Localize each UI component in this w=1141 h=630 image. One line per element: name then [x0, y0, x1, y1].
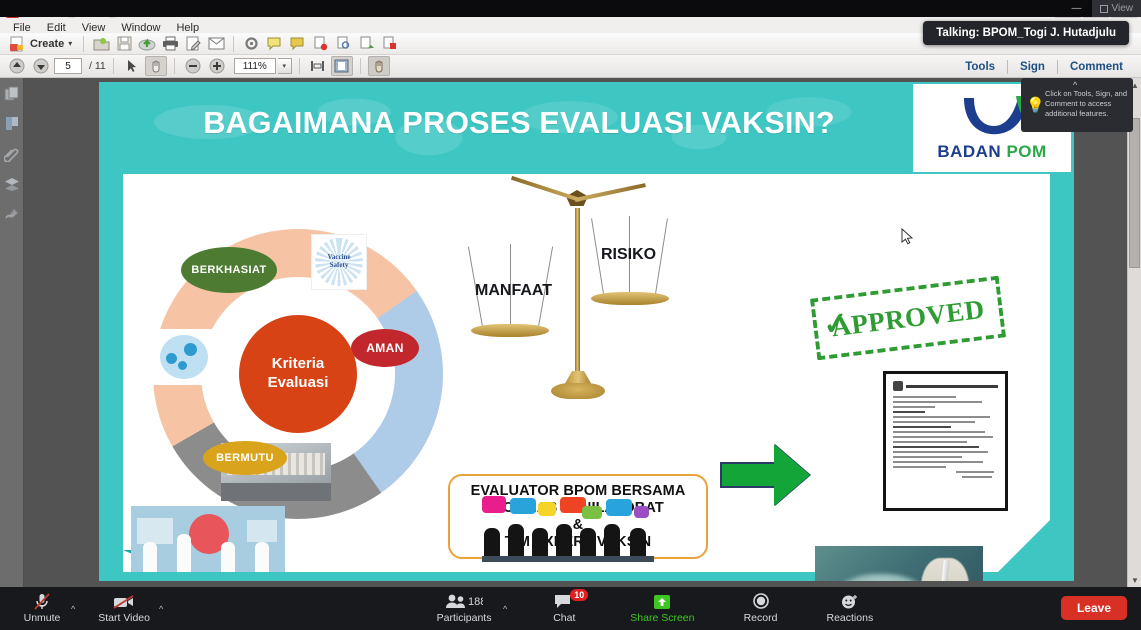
hint-popup-text: Click on Tools, Sign, and Comment to acc…	[1045, 89, 1127, 119]
comment-icon	[266, 37, 282, 51]
edit-pdf-button[interactable]	[182, 34, 204, 54]
sticky-note-button[interactable]	[286, 34, 308, 54]
video-camera-off-icon	[112, 593, 136, 611]
zoom-view-label: View	[1112, 3, 1134, 14]
slide-title: BAGAIMANA PROSES EVALUASI VAKSIN?	[99, 106, 939, 141]
pan-tool-icon	[372, 59, 386, 73]
start-video-label: Start Video	[98, 612, 150, 624]
chat-button[interactable]: 10 Chat	[538, 587, 590, 630]
microphone-muted-icon	[32, 593, 52, 611]
unmute-button[interactable]: Unmute	[16, 587, 68, 630]
record-label: Record	[744, 612, 778, 624]
hint-caret-icon: ^	[1073, 79, 1077, 91]
audio-options-caret-icon[interactable]: ^	[68, 587, 78, 630]
scientists-illustration	[131, 506, 285, 572]
record-button[interactable]: Record	[735, 587, 787, 630]
search-button[interactable]	[332, 34, 354, 54]
reactions-smiley-icon	[840, 593, 860, 611]
hand-tool-button[interactable]	[145, 56, 167, 76]
tools-button[interactable]: Tools	[953, 61, 1007, 73]
email-button[interactable]	[205, 34, 227, 54]
export-icon	[359, 36, 374, 51]
zoom-control-bar: Unmute ^ Start Video ^	[0, 587, 1141, 630]
green-arrow-icon	[720, 444, 812, 506]
create-pdf-icon	[8, 35, 26, 53]
toolbar-separator	[299, 58, 300, 74]
page-total-label: / 11	[89, 60, 106, 72]
pdf-page-content: BAGAIMANA PROSES EVALUASI VAKSIN? BADAN …	[99, 82, 1074, 581]
pdf-vertical-scrollbar[interactable]: ▲ ▼	[1127, 78, 1141, 587]
participants-button[interactable]: 188 Participants	[428, 587, 500, 630]
settings-button[interactable]	[240, 34, 262, 54]
share-screen-icon	[651, 593, 673, 611]
zoom-top-bar	[0, 0, 1141, 17]
previous-page-icon	[9, 58, 25, 74]
toolbar-separator	[233, 36, 234, 52]
stamp-icon	[313, 36, 328, 51]
criteria-circle-diagram: Vaccine Safety BERKHASIAT AMAN BERMUTU K…	[153, 229, 443, 519]
zoom-level-input[interactable]: 111%	[234, 58, 276, 74]
unmute-label: Unmute	[24, 612, 61, 624]
chat-label: Chat	[553, 612, 575, 624]
video-options-caret-icon[interactable]: ^	[156, 587, 166, 630]
scale-label-risiko: RISIKO	[601, 246, 656, 264]
upload-cloud-button[interactable]	[136, 34, 158, 54]
badan-pom-wordmark: BADAN POM	[937, 142, 1046, 162]
reactions-button[interactable]: Reactions	[821, 587, 880, 630]
upload-cloud-icon	[138, 36, 156, 51]
layers-icon[interactable]	[4, 176, 20, 192]
zoom-view-button[interactable]: View	[1092, 0, 1141, 17]
vaccine-safety-line2: Safety	[330, 262, 349, 270]
previous-page-button[interactable]	[6, 56, 28, 76]
fit-page-icon	[334, 59, 349, 73]
criteria-center-label: Kriteria Evaluasi	[239, 315, 357, 433]
center-line1: Kriteria	[272, 355, 325, 374]
bubble-berkhasiat: BERKHASIAT	[181, 247, 277, 293]
toolbar-separator	[113, 58, 114, 74]
sign-button[interactable]: Sign	[1008, 61, 1057, 73]
stamp-button[interactable]	[309, 34, 331, 54]
comment-panel-button[interactable]: Comment	[1058, 61, 1135, 73]
approved-stamp-text: APPROVED	[810, 276, 1006, 361]
acrobat-navigation-pane	[0, 78, 24, 587]
center-line2: Evaluasi	[268, 374, 329, 393]
participants-caret-icon[interactable]: ^	[500, 587, 510, 630]
vaccination-photo	[815, 546, 983, 581]
bubble-aman: AMAN	[351, 329, 419, 367]
create-form-icon	[382, 36, 397, 51]
fit-page-button[interactable]	[331, 56, 353, 76]
zoom-out-icon	[185, 58, 201, 74]
zoom-minimize-button[interactable]: —	[1062, 0, 1092, 17]
participants-label: Participants	[437, 612, 492, 624]
acrobat-toolbar-navigation: 5 / 11	[0, 55, 1141, 78]
save-icon	[117, 36, 132, 51]
hand-tool-icon	[149, 59, 163, 73]
scale-pan-right	[591, 292, 669, 305]
toolbar-separator	[174, 58, 175, 74]
signatures-icon[interactable]	[4, 206, 20, 222]
toolbar-separator	[83, 36, 84, 52]
svg-text:188: 188	[468, 596, 483, 608]
search-icon	[336, 36, 351, 51]
zoom-in-button[interactable]	[206, 56, 228, 76]
leave-meeting-button[interactable]: Leave	[1061, 596, 1127, 620]
create-pdf-button[interactable]: Create ▾	[6, 34, 77, 54]
start-video-button[interactable]: Start Video	[92, 587, 156, 630]
scale-pan-left	[471, 324, 549, 337]
select-tool-button[interactable]	[121, 56, 143, 76]
screen-root: Kompac_180121_rev 180121 13.50 (1).pdf -…	[0, 0, 1141, 630]
adobe-acrobat-window: Kompac_180121_rev 180121 13.50 (1).pdf -…	[0, 0, 1141, 587]
create-form-button[interactable]	[378, 34, 400, 54]
fit-width-button[interactable]	[307, 56, 329, 76]
scroll-down-arrow-icon[interactable]: ▼	[1130, 575, 1140, 585]
share-screen-button[interactable]: Share Screen	[624, 587, 700, 630]
logo-text-badan: BADAN	[937, 142, 1001, 161]
active-speaker-indicator: Talking: BPOM_Togi J. Hutadjulu	[923, 21, 1129, 45]
fit-width-icon	[310, 59, 325, 73]
pan-tool-button[interactable]	[368, 56, 390, 76]
email-icon	[208, 37, 225, 50]
zoom-dropdown-button[interactable]: ▾	[278, 58, 292, 74]
select-tool-icon	[125, 59, 139, 73]
approved-stamp: ✓ APPROVED	[810, 276, 1006, 361]
scale-label-manfaat: MANFAAT	[475, 282, 552, 300]
lightbulb-icon: 💡	[1026, 96, 1045, 116]
acrobat-hint-popup[interactable]: ^ 💡 Click on Tools, Sign, and Comment to…	[1021, 78, 1133, 132]
export-button[interactable]	[355, 34, 377, 54]
create-caret-icon: ▾	[68, 39, 72, 48]
bookmarks-icon[interactable]	[4, 116, 20, 132]
vaccine-safety-tile: Vaccine Safety	[311, 234, 367, 290]
sticky-note-icon	[289, 37, 305, 51]
virus-illustration	[153, 329, 215, 385]
share-screen-label: Share Screen	[630, 612, 694, 624]
open-file-icon	[93, 36, 110, 52]
participants-icon: 188	[445, 593, 483, 611]
record-icon	[752, 593, 770, 611]
comment-button[interactable]	[263, 34, 285, 54]
open-file-button[interactable]	[90, 34, 112, 54]
scrollbar-thumb[interactable]	[1129, 118, 1140, 268]
zoom-window-controls: — View	[1062, 0, 1141, 17]
page-number-input[interactable]: 5	[54, 58, 82, 74]
attachments-icon[interactable]	[4, 146, 20, 162]
bubble-bermutu: BERMUTU	[203, 441, 287, 475]
acrobat-right-tools: Tools Sign Comment	[953, 55, 1135, 78]
zoom-out-button[interactable]	[182, 56, 204, 76]
meeting-illustration	[478, 496, 658, 572]
chat-unread-badge: 10	[570, 589, 588, 601]
print-icon	[162, 36, 179, 51]
reactions-label: Reactions	[827, 612, 874, 624]
gear-icon	[244, 36, 259, 51]
zoom-in-icon	[209, 58, 225, 74]
page-thumbnails-icon[interactable]	[4, 86, 20, 102]
save-button[interactable]	[113, 34, 135, 54]
toolbar-separator	[360, 58, 361, 74]
edit-pdf-icon	[185, 36, 201, 51]
logo-text-pom: POM	[1006, 142, 1046, 161]
balance-scale-illustration: MANFAAT RISIKO	[453, 184, 703, 399]
print-button[interactable]	[159, 34, 181, 54]
next-page-icon	[33, 58, 49, 74]
next-page-button[interactable]	[30, 56, 52, 76]
create-label: Create	[30, 38, 64, 50]
mouse-cursor-icon	[901, 228, 915, 246]
grid-view-icon	[1100, 5, 1108, 13]
approval-certificate-image	[883, 371, 1008, 511]
